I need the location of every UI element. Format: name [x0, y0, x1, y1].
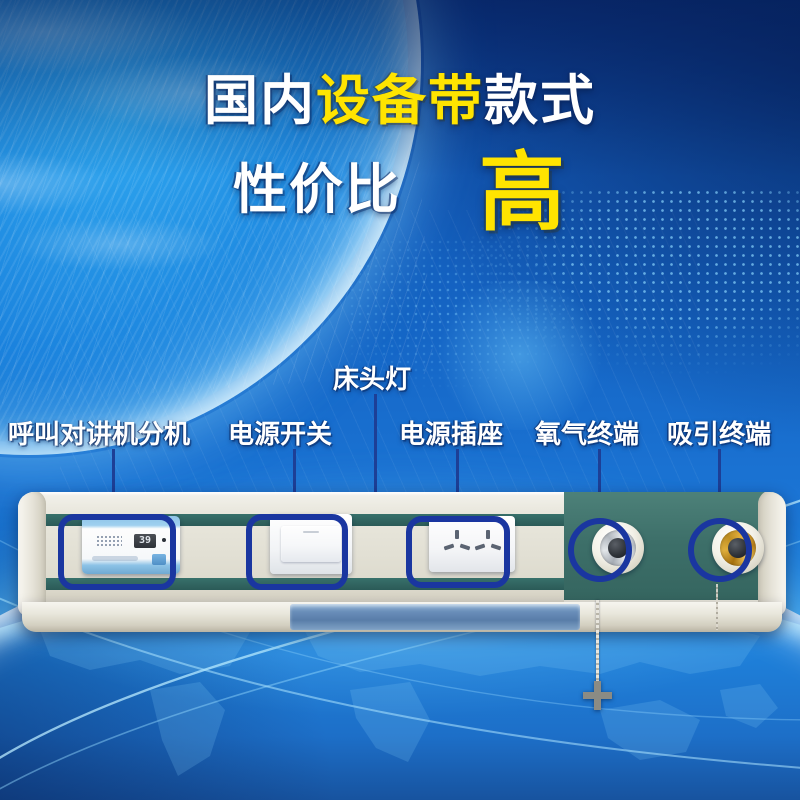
callout-label-oxygen-terminal: 氧气终端: [535, 414, 639, 451]
promo-banner: 国内设备带款式 性价比高 呼叫对讲机分机 电源开关 床头灯 电源插座 氧气终端 …: [0, 0, 800, 800]
intercom-led-indicator: [162, 538, 166, 542]
headline-line-2-text: 性价比: [233, 160, 401, 220]
speaker-grille-icon: [96, 535, 122, 548]
callout-label-suction-terminal: 吸引终端: [667, 414, 771, 451]
socket-pin-top-icon: [486, 530, 490, 539]
intercom-display: 39: [134, 534, 156, 548]
callout-label-power-switch: 电源开关: [228, 414, 332, 451]
suction-vacuum-terminal[interactable]: [712, 522, 764, 574]
headline-line-1: 国内设备带款式: [0, 74, 800, 128]
socket-left[interactable]: [442, 530, 472, 558]
pull-cord-cross-handle-icon[interactable]: [583, 681, 612, 710]
socket-right[interactable]: [473, 530, 503, 558]
suction-port-core: [728, 538, 748, 558]
panel-rail-glass-insert: [290, 604, 580, 630]
headline-highlight: 设备带: [316, 71, 484, 131]
socket-pin-right-icon: [460, 544, 471, 551]
socket-pin-left-icon: [444, 544, 455, 551]
headline-block: 国内设备带款式 性价比高: [0, 74, 800, 236]
callout-label-intercom: 呼叫对讲机分机: [8, 414, 190, 451]
socket-pin-top-icon: [455, 530, 459, 539]
bed-lamp-power-switch[interactable]: [270, 514, 352, 574]
callout-label-bed-lamp: 床头灯: [333, 359, 411, 396]
intercom-slot: [92, 556, 138, 561]
panel-body: 39: [18, 492, 786, 616]
headline-part-2: 款式: [484, 71, 596, 131]
socket-pin-left-icon: [475, 544, 486, 551]
intercom-call-button[interactable]: [152, 554, 166, 565]
oxygen-port-core: [608, 538, 628, 558]
panel-endcap-left: [18, 492, 46, 616]
headline-part-1: 国内: [204, 71, 316, 131]
headline-line-2: 性价比高: [0, 150, 800, 236]
callout-label-power-outlet: 电源插座: [399, 414, 503, 451]
socket-pin-right-icon: [491, 544, 502, 551]
medical-bed-head-unit: 39: [18, 492, 786, 640]
headline-emphasis-char: 高: [479, 150, 567, 236]
panel-stripe-bottom: [18, 578, 564, 590]
nurse-call-intercom-unit[interactable]: 39: [82, 516, 180, 574]
oxygen-gas-terminal[interactable]: [592, 522, 644, 574]
secondary-cord-chain: [716, 584, 718, 630]
pull-cord-chain[interactable]: [596, 600, 599, 688]
rocker-switch-paddle[interactable]: [281, 526, 341, 562]
power-outlet-socket[interactable]: [429, 516, 515, 572]
